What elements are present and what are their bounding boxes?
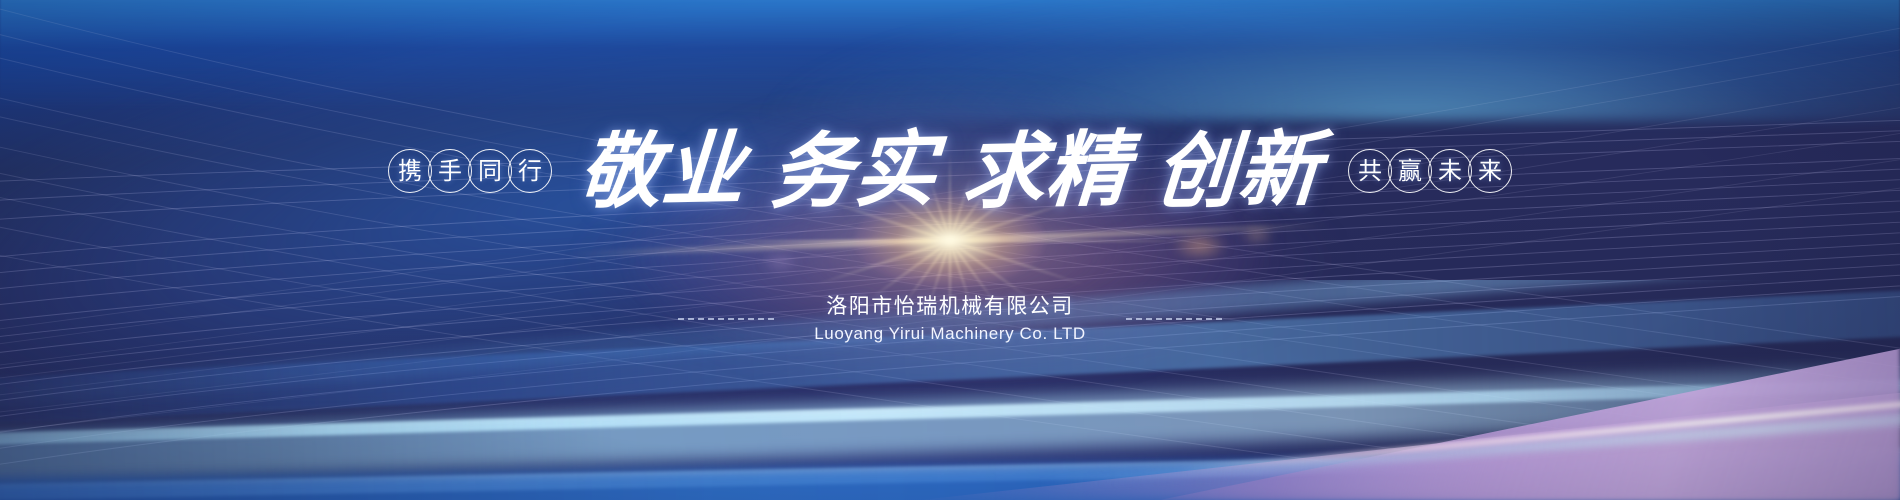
company-name-cn: 洛阳市怡瑞机械有限公司	[814, 292, 1086, 321]
circled-char-gong: 共	[1348, 149, 1392, 193]
circled-char-ying: 赢	[1388, 149, 1432, 193]
company-name-row: 洛阳市怡瑞机械有限公司 Luoyang Yirui Machinery Co. …	[0, 292, 1900, 346]
banner-content: 携 手 同 行 敬业 务实 求精 创新 共 赢 未 来 洛阳市怡瑞机械有限公司	[0, 0, 1900, 500]
dashed-rule-right	[1126, 318, 1222, 320]
corporate-culture-banner: 携 手 同 行 敬业 务实 求精 创新 共 赢 未 来 洛阳市怡瑞机械有限公司	[0, 0, 1900, 500]
slogan-row: 携 手 同 行 敬业 务实 求精 创新 共 赢 未 来	[0, 130, 1900, 212]
calligraphy-word-jingye: 敬业	[576, 128, 748, 213]
circled-char-xing: 行	[508, 149, 552, 193]
circled-char-lai: 来	[1468, 149, 1512, 193]
circled-char-wei: 未	[1428, 149, 1472, 193]
calligraphy-word-chuangxin: 创新	[1152, 128, 1324, 213]
dashed-rule-left	[678, 318, 774, 320]
company-names: 洛阳市怡瑞机械有限公司 Luoyang Yirui Machinery Co. …	[814, 292, 1086, 346]
left-circled-phrase: 携 手 同 行	[390, 149, 550, 193]
company-name-en: Luoyang Yirui Machinery Co. LTD	[814, 321, 1086, 347]
right-circled-phrase: 共 赢 未 来	[1350, 149, 1510, 193]
calligraphy-word-qiujing: 求精	[960, 128, 1132, 213]
circled-char-tong: 同	[468, 149, 512, 193]
calligraphy-word-wushi: 务实	[768, 128, 940, 213]
circled-char-xie: 携	[388, 149, 432, 193]
calligraphy-slogan: 敬业 务实 求精 创新	[566, 130, 1334, 212]
circled-char-shou: 手	[428, 149, 472, 193]
